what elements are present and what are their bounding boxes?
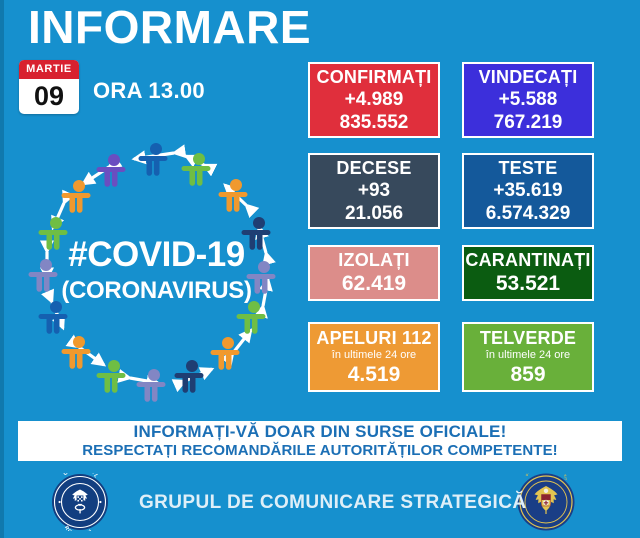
stat-label-vindecati: VINDECAȚI bbox=[479, 66, 578, 88]
stat-sub-apeluri: în ultimele 24 ore bbox=[332, 349, 416, 362]
stat-total-confirmati: 835.552 bbox=[340, 111, 409, 134]
government-seal-icon: GUVERNUL ROMÂNIEI bbox=[51, 473, 109, 531]
stat-label-apeluri: APELURI 112 bbox=[316, 327, 431, 349]
stat-label-confirmati: CONFIRMAȚI bbox=[317, 66, 432, 88]
left-edge-strip bbox=[0, 0, 4, 538]
stat-total-carantinati: 53.521 bbox=[496, 271, 560, 297]
stat-box-apeluri: APELURI 112 în ultimele 24 ore 4.519 bbox=[308, 322, 440, 392]
stat-box-telverde: TELVERDE în ultimele 24 ore 859 bbox=[462, 322, 594, 392]
stat-delta-teste: +35.619 bbox=[493, 179, 562, 202]
covid-circle-graphic: #COVID-19 (CORONAVIRUS) bbox=[14, 132, 299, 410]
stat-delta-confirmati: +4.989 bbox=[345, 88, 404, 111]
stat-label-carantinati: CARANTINAȚI bbox=[465, 249, 590, 271]
covid-subtitle: (CORONAVIRUS) bbox=[14, 277, 299, 305]
stat-total-teste: 6.574.329 bbox=[486, 202, 571, 225]
calendar-day-number: 09 bbox=[19, 79, 79, 114]
stat-delta-vindecati: +5.588 bbox=[499, 88, 558, 111]
stat-label-teste: TESTE bbox=[498, 157, 557, 179]
message-line-secondary: RESPECTAȚI RECOMANDĂRILE AUTORITĂȚILOR C… bbox=[82, 442, 558, 460]
stat-total-izolati: 62.419 bbox=[342, 271, 406, 297]
message-banner: INFORMAȚI-VĂ DOAR DIN SURSE OFICIALE! RE… bbox=[18, 421, 622, 461]
stat-total-vindecati: 767.219 bbox=[494, 111, 563, 134]
informare-poster: INFORMARE MARTIE 09 ORA 13.00 bbox=[0, 0, 640, 538]
stat-box-confirmati: CONFIRMAȚI +4.989 835.552 bbox=[308, 62, 440, 138]
stat-box-decese: DECESE +93 21.056 bbox=[308, 153, 440, 229]
stat-box-izolati: IZOLAȚI 62.419 bbox=[308, 245, 440, 301]
stat-delta-decese: +93 bbox=[358, 179, 390, 202]
stat-total-apeluri: 4.519 bbox=[348, 362, 401, 388]
stat-total-telverde: 859 bbox=[510, 362, 545, 388]
stat-label-izolati: IZOLAȚI bbox=[338, 249, 409, 271]
page-title: INFORMARE bbox=[28, 2, 311, 52]
message-line-primary: INFORMAȚI-VĂ DOAR DIN SURSE OFICIALE! bbox=[134, 422, 507, 442]
calendar-badge: MARTIE 09 bbox=[19, 60, 79, 114]
stat-box-teste: TESTE +35.619 6.574.329 bbox=[462, 153, 594, 229]
stat-box-vindecati: VINDECAȚI +5.588 767.219 bbox=[462, 62, 594, 138]
footer-organization-label: GRUPUL DE COMUNICARE STRATEGICĂ bbox=[139, 492, 526, 514]
stat-label-telverde: TELVERDE bbox=[480, 327, 576, 349]
stat-box-carantinati: CARANTINAȚI 53.521 bbox=[462, 245, 594, 301]
covid-hashtag: #COVID-19 bbox=[14, 236, 299, 274]
stat-sub-telverde: în ultimele 24 ore bbox=[486, 349, 570, 362]
hour-label: ORA 13.00 bbox=[93, 78, 205, 104]
stat-total-decese: 21.056 bbox=[345, 202, 403, 225]
stat-label-decese: DECESE bbox=[336, 157, 411, 179]
calendar-month-label: MARTIE bbox=[19, 60, 79, 79]
